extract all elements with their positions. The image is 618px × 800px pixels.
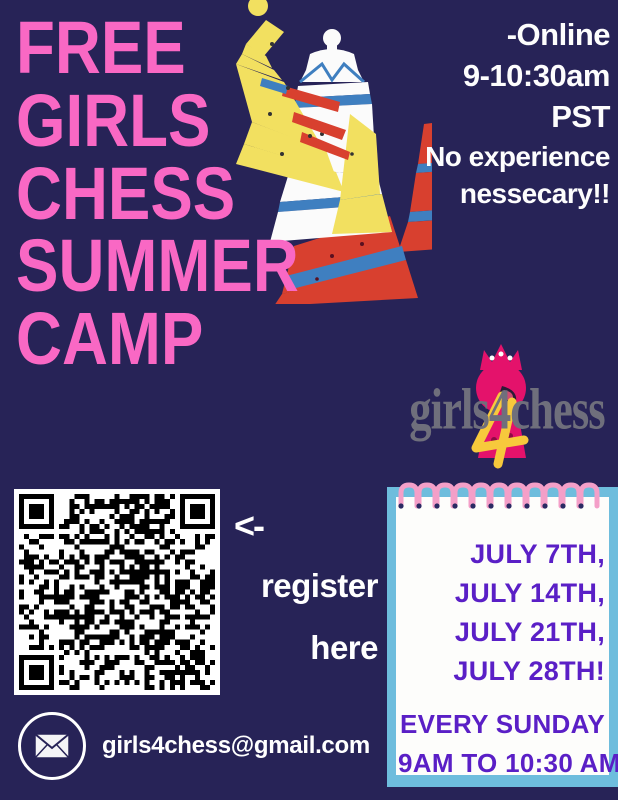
headline-line-1: FREE [16,14,351,83]
envelope-glyph [34,733,70,759]
register-callout: <- register here [228,508,378,669]
info-experience-2: nessecary!! [360,175,610,212]
date-item-4: JULY 28TH! [402,652,605,691]
registration-qr-code[interactable] [14,489,220,695]
envelope-icon [18,712,86,780]
headline-line-5: CAMP [16,305,351,374]
email-address[interactable]: girls4chess@gmail.com [102,732,370,760]
headline-line-2: GIRLS [16,87,351,156]
session-dates-list: JULY 7TH, JULY 14TH, JULY 21TH, JULY 28T… [402,535,605,691]
info-experience-1: No experience [360,138,610,175]
contact-email-row[interactable]: girls4chess@gmail.com [18,712,370,780]
date-item-2: JULY 14TH, [402,574,605,613]
info-online: -Online [360,14,610,55]
register-label-line1: register [228,566,378,606]
girls4chess-logo: girls4chess [398,330,616,485]
left-arrow-icon: <- [234,508,378,544]
qr-code-canvas[interactable] [14,489,220,695]
schedule-notepad: JULY 7TH, JULY 14TH, JULY 21TH, JULY 28T… [387,487,618,787]
logo-queen-character [398,330,616,485]
info-time: 9-10:30am [360,55,610,96]
register-label-line2: here [228,628,378,668]
notepad-page: JULY 7TH, JULY 14TH, JULY 21TH, JULY 28T… [396,497,609,775]
date-item-1: JULY 7TH, [402,535,605,574]
date-item-3: JULY 21TH, [402,613,605,652]
info-timezone: PST [360,96,610,137]
poster-root: FREE GIRLS CHESS SUMMER CAMP -Online 9-1… [0,0,618,800]
poster-headline: FREE GIRLS CHESS SUMMER CAMP [16,14,406,378]
schedule-footer: EVERY SUNDAY 9AM TO 10:30 AM! [398,705,607,783]
headline-line-3: CHESS [16,160,351,229]
session-info-block: -Online 9-10:30am PST No experience ness… [360,14,610,212]
headline-line-4: SUMMER [16,232,351,301]
footer-every-sunday: EVERY SUNDAY [398,705,607,744]
footer-time-range: 9AM TO 10:30 AM! [398,744,607,783]
